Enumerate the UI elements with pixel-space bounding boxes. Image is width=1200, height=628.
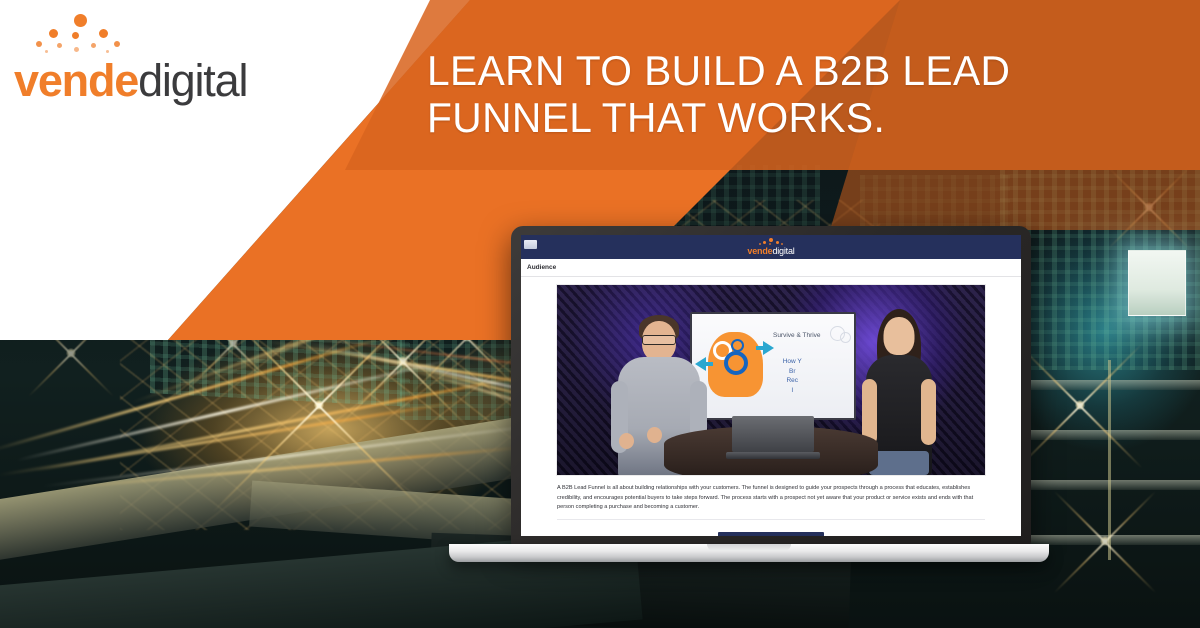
glasses-icon (642, 335, 676, 345)
logo-dot-burst-icon (28, 14, 148, 60)
laptop-trackpad-notch (707, 544, 791, 551)
header-vende-digital-logo[interactable]: vendedigital (747, 238, 794, 256)
breadcrumb-label: Audience (527, 264, 556, 271)
light-pole (1108, 360, 1111, 560)
presenter-arm (921, 379, 936, 445)
star-flare (1079, 404, 1080, 405)
presenter-hand (619, 433, 634, 449)
slide-subtitle-line-4: I (783, 386, 802, 395)
logo-wordmark: vendedigital (14, 58, 247, 103)
complete-and-continue-button[interactable]: COMPLETE & CONTINUE → (718, 532, 825, 536)
lesson-description: A B2B Lead Funnel is all about building … (521, 475, 1021, 513)
header-menu-icon[interactable] (524, 240, 537, 249)
header-logo-word-vende: vende (747, 246, 772, 256)
cta-container: COMPLETE & CONTINUE → (557, 519, 985, 536)
slide-subtitle-line-2: Br (783, 367, 802, 376)
flare-ray (1053, 541, 1105, 593)
slide-subtitle: How Y Br Rec I (783, 357, 802, 395)
promo-banner: vendedigital LEARN TO BUILD A B2B LEAD F… (0, 0, 1200, 628)
flare-core (1075, 400, 1085, 410)
circle-decoration (840, 332, 851, 343)
logo-word-vende: vende (14, 55, 138, 106)
slide-subtitle-line-1: How Y (783, 357, 802, 366)
logo-word-digital: digital (138, 55, 247, 106)
laptop-mockup: vendedigital Audience (449, 226, 1049, 562)
slide-subtitle-line-3: Rec (783, 376, 802, 385)
presenter-hand (647, 427, 662, 443)
headline-text: LEARN TO BUILD A B2B LEAD FUNNEL THAT WO… (427, 48, 1164, 141)
laptop-screen: vendedigital Audience (521, 235, 1021, 536)
flare-ray (1104, 541, 1156, 593)
arrow-left-icon (763, 341, 774, 355)
presenter-jeans (869, 451, 929, 475)
star-flare (70, 352, 71, 353)
presenter-head (884, 317, 915, 355)
lesson-video-thumbnail[interactable]: Survive & Thrive How Y Br Rec I (557, 285, 985, 475)
studio-laptop (732, 416, 813, 452)
header-logo-wordmark: vendedigital (747, 247, 794, 256)
laptop-lid: vendedigital Audience (511, 226, 1031, 546)
flare-ray (27, 353, 71, 397)
vende-digital-logo[interactable]: vendedigital (14, 14, 247, 103)
flare-core (66, 348, 76, 358)
flare-ray (70, 353, 114, 397)
presentation-slide: Survive & Thrive How Y Br Rec I (690, 312, 857, 421)
gear-icon (731, 339, 744, 352)
lesson-body: Survive & Thrive How Y Br Rec I (521, 277, 1021, 475)
header-logo-word-digital: digital (772, 246, 794, 256)
slide-title: Survive & Thrive (773, 332, 821, 340)
course-site-header: vendedigital (521, 235, 1021, 259)
header-logo-dot-burst-icon (758, 238, 784, 246)
breadcrumb[interactable]: Audience (521, 259, 1021, 277)
billboard-sign (1128, 250, 1186, 316)
laptop-base (449, 544, 1049, 562)
